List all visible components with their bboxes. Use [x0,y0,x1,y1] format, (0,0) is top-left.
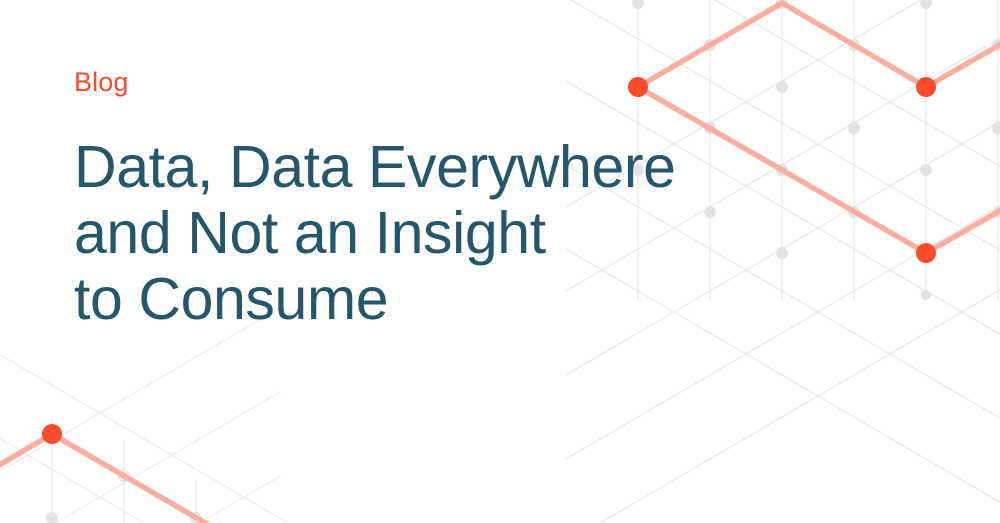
hero-text-block: Blog Data, Data Everywhere and Not an In… [74,66,676,332]
category-label-blog[interactable]: Blog [74,66,676,98]
page-title: Data, Data Everywhere and Not an Insight… [74,134,676,332]
lattice-grid-nodes [632,0,1000,300]
lattice-highlight-path [0,434,250,523]
lattice-highlight-path [638,3,1000,253]
hero-banner: Blog Data, Data Everywhere and Not an In… [0,0,1000,523]
lattice-grid-lines [0,308,300,523]
lattice-highlight-nodes [42,424,62,444]
lattice-grid-nodes [0,470,202,523]
